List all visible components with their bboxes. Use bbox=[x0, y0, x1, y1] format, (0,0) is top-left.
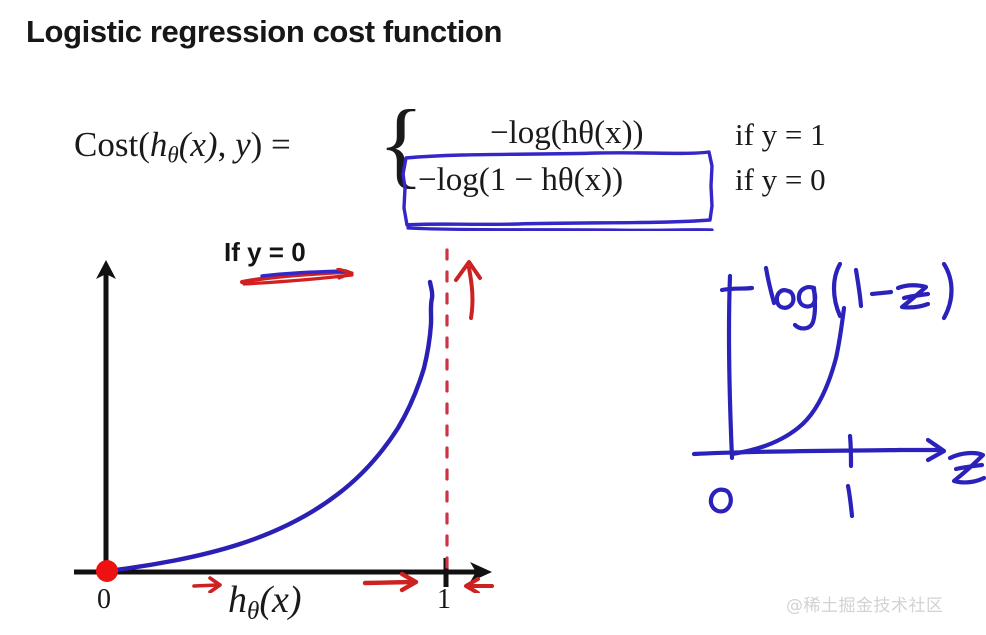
x-axis-label: hθ(x) bbox=[228, 578, 302, 626]
cost-function-lhs: Cost(hθ(x), y) = bbox=[74, 125, 291, 168]
case-2-text: −log(1 − hθ(x)) bbox=[418, 162, 623, 198]
case-1-text: −log(hθ(x)) bbox=[490, 115, 644, 151]
red-up-arrow-annotation bbox=[456, 262, 480, 318]
sketch-curve bbox=[732, 308, 844, 454]
case-1-condition-text: if y = 1 bbox=[735, 117, 826, 152]
y-axis-arrowhead bbox=[96, 260, 116, 279]
x-label-far-right-arrow bbox=[466, 579, 492, 593]
x-axis-label-x: (x) bbox=[259, 579, 301, 621]
case-2-expression: −log(1 − hθ(x)) bbox=[418, 162, 623, 199]
sketch-axis-arrowhead bbox=[928, 440, 944, 460]
x-axis-arrowhead bbox=[470, 562, 492, 582]
if-y-equals-zero-label: If y = 0 bbox=[224, 237, 306, 268]
case-1-condition: if y = 1 bbox=[735, 117, 826, 153]
x-label-left-arrow bbox=[194, 578, 220, 592]
handwritten-sketch bbox=[688, 258, 986, 518]
h-symbol: h bbox=[150, 125, 168, 164]
x-axis-label-h: h bbox=[228, 579, 247, 621]
case-2-condition: if y = 0 bbox=[735, 162, 826, 198]
sketch-label-one bbox=[848, 486, 852, 516]
lhs-comma: , bbox=[218, 125, 227, 164]
cost-curve-plot bbox=[60, 248, 530, 593]
case-2-condition-text: if y = 0 bbox=[735, 162, 826, 197]
lhs-close-paren: ) bbox=[251, 125, 263, 164]
sketch-tick-one bbox=[850, 436, 851, 466]
handwritten-minus-log-one-minus-z bbox=[722, 264, 952, 328]
cost-curve-line bbox=[107, 282, 432, 571]
x-tick-label-one: 1 bbox=[437, 584, 451, 616]
y-axis bbox=[96, 260, 116, 572]
lhs-open-paren: ( bbox=[138, 125, 150, 164]
x-argument: (x) bbox=[179, 125, 218, 164]
watermark: @稀土掘金技术社区 bbox=[786, 591, 944, 616]
page-title: Logistic regression cost function bbox=[26, 14, 502, 50]
sketch-label-zero bbox=[711, 490, 731, 512]
if-y-underline-annotation bbox=[240, 268, 365, 292]
origin-red-dot bbox=[96, 560, 118, 582]
case-1-expression: −log(hθ(x)) bbox=[490, 115, 644, 152]
slide-canvas: Logistic regression cost function Cost(h… bbox=[0, 0, 986, 635]
sketch-axes bbox=[694, 276, 944, 466]
y-symbol: y bbox=[235, 125, 251, 164]
sketch-z-label bbox=[950, 453, 984, 482]
cost-word: Cost bbox=[74, 125, 138, 164]
equals-sign: = bbox=[271, 125, 291, 164]
theta-subscript: θ bbox=[167, 141, 178, 167]
x-tick-label-zero: 0 bbox=[97, 584, 111, 616]
x-axis-label-theta: θ bbox=[247, 598, 259, 625]
x-label-right-arrow bbox=[365, 574, 416, 590]
